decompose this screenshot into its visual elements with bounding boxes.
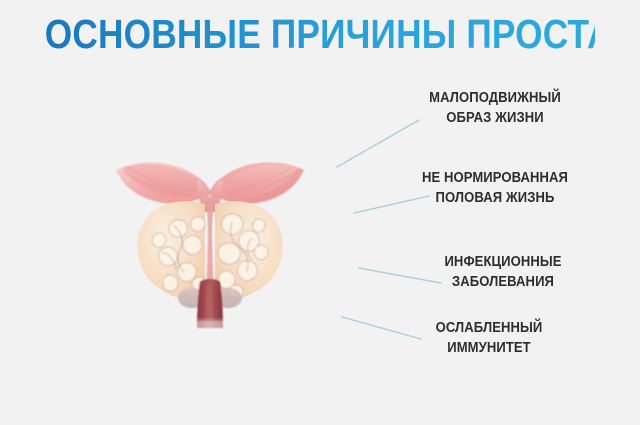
leader-lines-group bbox=[0, 0, 640, 425]
page-title: ОСНОВНЫЕ ПРИЧИНЫ ПРОСТАТИТА bbox=[45, 11, 595, 57]
callout-label-sedentary-lifestyle: МАЛОПОДВИЖНЫЙ ОБРАЗ ЖИЗНИ bbox=[401, 88, 590, 128]
callout-line-2: ИММУНИТЕТ bbox=[395, 338, 584, 358]
bladder-base-shape bbox=[116, 162, 304, 203]
callout-line-1: ИНФЕКЦИОННЫЕ bbox=[444, 254, 561, 270]
prostate-illustration bbox=[112, 152, 308, 332]
callout-line-2: ПОЛОВАЯ ЖИЗНЬ bbox=[401, 188, 590, 208]
callout-line-1: МАЛОПОДВИЖНЫЙ bbox=[429, 90, 561, 106]
callout-label-irregular-sex-life: НЕ НОРМИРОВАННАЯ ПОЛОВАЯ ЖИЗНЬ bbox=[401, 168, 590, 208]
callout-line-2: ЗАБОЛЕВАНИЯ bbox=[409, 272, 598, 292]
callout-line-2: ОБРАЗ ЖИЗНИ bbox=[401, 108, 590, 128]
urethra-channel bbox=[205, 204, 215, 292]
callout-label-infectious-diseases: ИНФЕКЦИОННЫЕ ЗАБОЛЕВАНИЯ bbox=[409, 252, 598, 292]
callout-line-1: ОСЛАБЛЕННЫЙ bbox=[436, 320, 543, 336]
infographic-canvas: ОСНОВНЫЕ ПРИЧИНЫ ПРОСТАТИТА bbox=[0, 0, 640, 425]
callout-line-1: НЕ НОРМИРОВАННАЯ bbox=[422, 170, 568, 186]
callout-label-weakened-immunity: ОСЛАБЛЕННЫЙ ИММУНИТЕТ bbox=[395, 318, 584, 358]
bottom-fade bbox=[190, 320, 232, 332]
